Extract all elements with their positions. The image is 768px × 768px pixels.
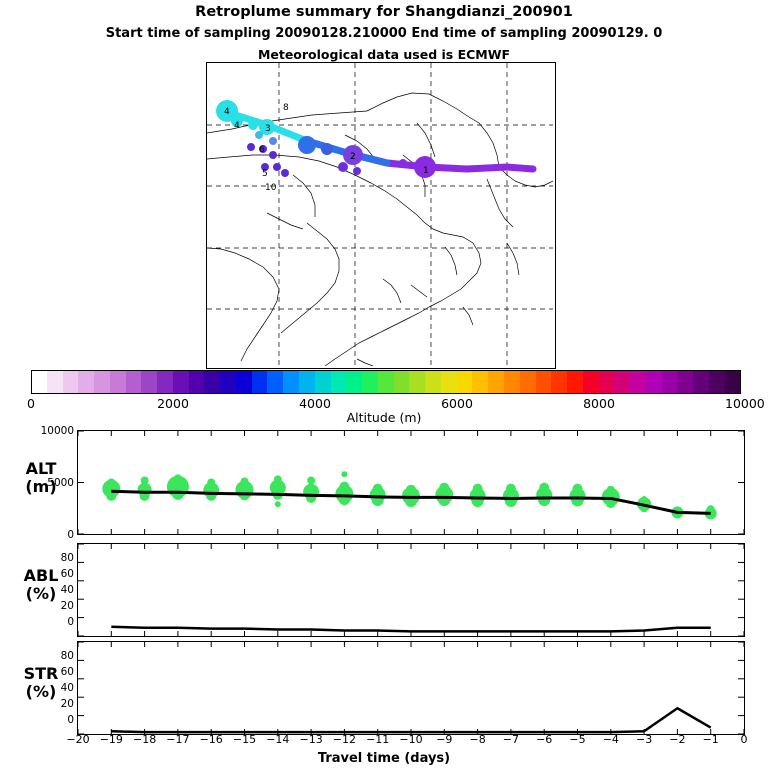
x-tick-label: −14 [262,733,294,746]
x-tick-label: −2 [661,733,693,746]
page-title: Retroplume summary for Shangdianzi_20090… [0,4,768,20]
colorbar-swatch [94,370,110,394]
alt-ytick-5000: 5000 [36,477,74,489]
colorbar-swatch [614,370,630,394]
x-tick-label: −18 [129,733,161,746]
colorbar-swatch [425,370,441,394]
colorbar-swatch [47,370,63,394]
x-tick-label: −20 [62,733,94,746]
colorbar-swatch [409,370,425,394]
str-plot [78,642,744,734]
colorbar-swatch [677,370,693,394]
colorbar-swatch [204,370,220,394]
retroplume-map: 4 4 3 2 1 8 6 5 10 [206,62,556,369]
x-tick-label: −15 [229,733,261,746]
colorbar-swatch [157,370,173,394]
colorbar-swatch [551,370,567,394]
map-graticule [207,63,553,366]
colorbar-swatch [709,370,725,394]
colorbar-swatch [378,370,394,394]
x-tick-label: −13 [295,733,327,746]
colorbar-swatch [441,370,457,394]
colorbar-swatch [504,370,520,394]
svg-text:1: 1 [423,166,429,176]
svg-text:10: 10 [265,183,277,193]
str-panel [77,641,745,735]
abl-ytick-20: 20 [36,600,74,612]
abl-panel [77,543,745,637]
colorbar-swatch [252,370,268,394]
colorbar-swatch [189,370,205,394]
colorbar-swatch [110,370,126,394]
x-tick-label: −1 [695,733,727,746]
x-tick-label: −8 [462,733,494,746]
colorbar-tick-1: 2000 [157,396,189,411]
colorbar-swatch [693,370,709,394]
colorbar-tick-2: 4000 [299,396,331,411]
x-tick-label: −4 [595,733,627,746]
abl-ytick-40: 40 [36,584,74,596]
map-svg: 4 4 3 2 1 8 6 5 10 [207,63,553,366]
x-tick-label: −7 [495,733,527,746]
abl-ytick-0: 0 [36,616,74,628]
colorbar-swatch [725,370,741,394]
colorbar-swatch [315,370,331,394]
str-ytick-0: 0 [36,714,74,726]
str-ytick-80: 80 [36,650,74,662]
x-tick-label: −3 [628,733,660,746]
str-ytick-60: 60 [36,666,74,678]
x-tick-label: 0 [728,733,760,746]
x-axis-label: Travel time (days) [0,751,768,766]
colorbar-tick-0: 0 [15,396,47,411]
colorbar-swatch [630,370,646,394]
colorbar-swatch [63,370,79,394]
colorbar-swatch [646,370,662,394]
x-tick-label: −10 [395,733,427,746]
colorbar-swatch [220,370,236,394]
colorbar-swatch [331,370,347,394]
svg-text:5: 5 [262,169,268,179]
alt-ytick-10000: 10000 [36,425,74,437]
colorbar-swatch [472,370,488,394]
colorbar-swatch [536,370,552,394]
str-ytick-20: 20 [36,698,74,710]
colorbar-swatch [283,370,299,394]
svg-text:6: 6 [259,145,265,155]
colorbar-swatch [78,370,94,394]
met-data-subtitle: Meteorological data used is ECMWF [0,47,768,62]
colorbar-swatch [267,370,283,394]
str-ytick-40: 40 [36,682,74,694]
alt-ytick-0: 0 [36,529,74,541]
footprint-markers [216,100,436,178]
colorbar-swatch [346,370,362,394]
colorbar-tick-4: 8000 [583,396,615,411]
colorbar-swatch [126,370,142,394]
colorbar-swatch [362,370,378,394]
svg-text:8: 8 [283,103,289,113]
colorbar-axis-label: Altitude (m) [0,410,768,425]
colorbar-tick-3: 6000 [441,396,473,411]
x-tick-label: −9 [428,733,460,746]
colorbar-swatch [141,370,157,394]
abl-ytick-60: 60 [36,568,74,580]
svg-text:4: 4 [234,121,240,131]
svg-text:4: 4 [224,107,230,117]
abl-plot [78,544,744,636]
altitude-colorbar [31,370,741,394]
colorbar-swatch [662,370,678,394]
colorbar-swatch [583,370,599,394]
alt-label-line1: ALT [8,460,74,478]
abl-ytick-80: 80 [36,552,74,564]
svg-text:3: 3 [265,124,271,134]
altitude-plot [78,431,744,534]
x-tick-label: −12 [328,733,360,746]
sampling-time-subtitle: Start time of sampling 20090128.210000 E… [0,26,768,41]
altitude-panel [77,430,745,535]
colorbar-swatch [31,370,47,394]
x-tick-label: −5 [562,733,594,746]
colorbar-swatch [173,370,189,394]
colorbar-swatch [394,370,410,394]
colorbar-tick-5: 10000 [725,396,757,411]
x-tick-label: −19 [95,733,127,746]
x-tick-label: −6 [528,733,560,746]
colorbar-swatch [488,370,504,394]
x-tick-label: −17 [162,733,194,746]
colorbar-swatch [520,370,536,394]
colorbar-swatch [299,370,315,394]
colorbar-swatch [567,370,583,394]
colorbar-swatch [599,370,615,394]
svg-text:2: 2 [350,152,356,162]
colorbar-swatch [236,370,252,394]
x-tick-label: −16 [195,733,227,746]
x-tick-label: −11 [362,733,394,746]
colorbar-swatch [457,370,473,394]
